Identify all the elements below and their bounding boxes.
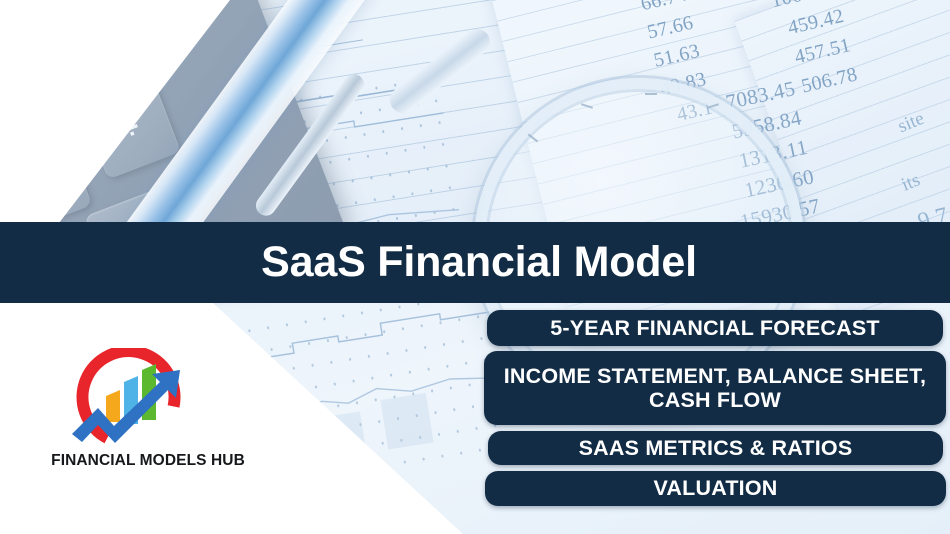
title-banner: SaaS Financial Model bbox=[0, 222, 950, 303]
logo-brand-name: FINANCIAL MODELS HUB bbox=[48, 452, 248, 470]
feature-pill-forecast[interactable]: 5-YEAR FINANCIAL FORECAST bbox=[487, 310, 943, 346]
feature-pill-valuation[interactable]: VALUATION bbox=[485, 471, 946, 506]
logo[interactable]: FINANCIAL MODELS HUB bbox=[48, 348, 248, 478]
slide-canvas: 2007-12-01 66.74 57.66 51.63 49.83 43.1 … bbox=[0, 0, 950, 534]
feature-pill-metrics[interactable]: SAAS METRICS & RATIOS bbox=[488, 431, 943, 465]
feature-pill-statements[interactable]: INCOME STATEMENT, BALANCE SHEET, CASH FL… bbox=[484, 351, 946, 425]
page-title: SaaS Financial Model bbox=[0, 222, 950, 303]
feature-pill-list: 5-YEAR FINANCIAL FORECAST INCOME STATEME… bbox=[480, 310, 950, 506]
logo-mark-icon bbox=[68, 348, 198, 448]
